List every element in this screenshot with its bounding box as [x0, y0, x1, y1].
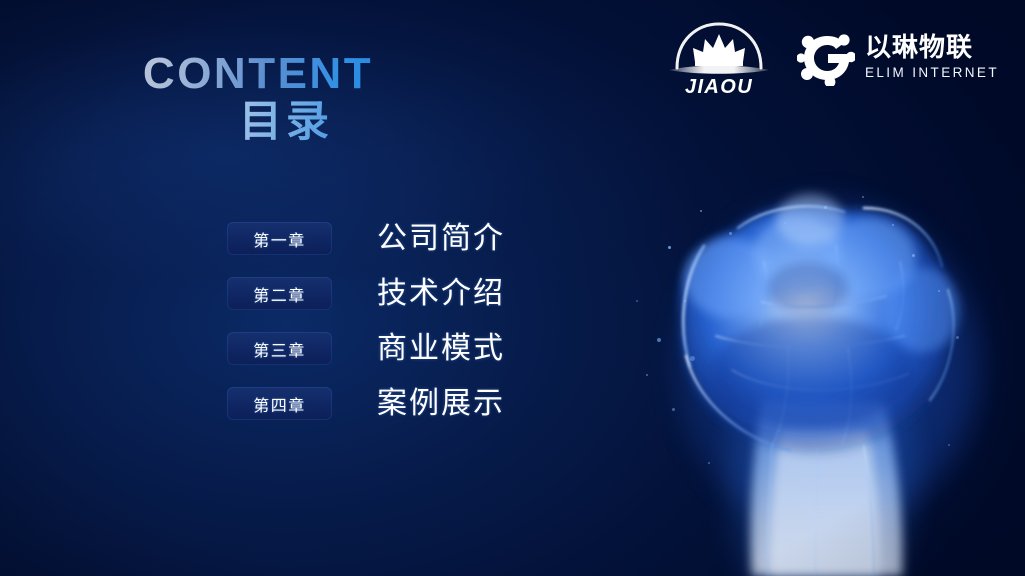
chapter-title[interactable]: 公司简介 [377, 224, 505, 254]
chapter-badge[interactable]: 第二章 [227, 277, 332, 310]
title-chinese: 目录 [164, 100, 408, 145]
chapter-badge[interactable]: 第三章 [227, 332, 332, 365]
jiaou-logo: JIAOU [665, 18, 773, 98]
elim-name-en: ELIM INTERNET [865, 66, 999, 81]
table-of-contents: 第一章 公司简介 第二章 技术介绍 第三章 商业模式 第四章 案例展示 [227, 222, 587, 420]
chapter-badge-label: 第一章 [253, 227, 306, 251]
chapter-badge-label: 第三章 [253, 337, 306, 361]
logo-bar: JIAOU [665, 16, 1015, 100]
elim-internet-logo: 以琳物联 ELIM INTERNET [797, 30, 999, 86]
crown-icon [693, 34, 745, 66]
page-title: CONTENT 目录 [108, 52, 408, 145]
chapter-badge[interactable]: 第一章 [227, 222, 332, 255]
list-item[interactable]: 第一章 公司简介 [227, 222, 587, 255]
chapter-badge-label: 第二章 [253, 282, 306, 306]
chapter-title[interactable]: 技术介绍 [377, 279, 505, 309]
list-item[interactable]: 第四章 案例展示 [227, 387, 587, 420]
chapter-title[interactable]: 案例展示 [377, 389, 505, 419]
jiaou-wordmark: JIAOU [685, 76, 753, 98]
elim-wordmark-block: 以琳物联 ELIM INTERNET [865, 35, 999, 80]
chapter-title[interactable]: 商业模式 [377, 334, 505, 364]
g-node-icon [797, 30, 855, 86]
chapter-badge-label: 第四章 [253, 392, 306, 416]
list-item[interactable]: 第二章 技术介绍 [227, 277, 587, 310]
presentation-slide: JIAOU [0, 0, 1025, 576]
title-english: CONTENT [108, 52, 408, 96]
elim-name-cn: 以琳物联 [865, 35, 999, 62]
chapter-badge[interactable]: 第四章 [227, 387, 332, 420]
list-item[interactable]: 第三章 商业模式 [227, 332, 587, 365]
